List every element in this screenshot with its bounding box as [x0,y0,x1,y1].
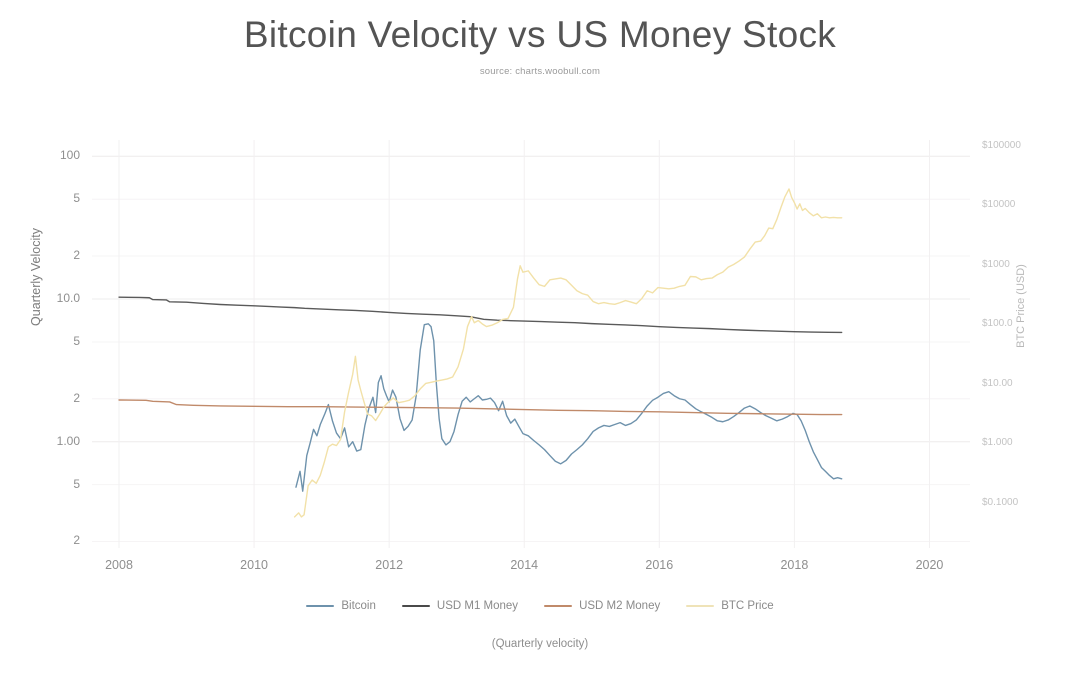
y2-axis-title: BTC Price (USD) [1015,226,1027,386]
legend-item[interactable]: USD M2 Money [544,600,660,612]
legend-swatch [402,605,430,607]
x-tick-label: 2012 [349,558,429,572]
chart-figure: Bitcoin Velocity vs US Money Stock sourc… [0,0,1080,675]
plot-area [0,0,1080,675]
chart-footnote: (Quarterly velocity) [0,638,1080,650]
y2-tick-label: $100000 [982,140,1021,151]
y-tick-label: 1.00 [18,434,80,448]
y-tick-label: 2 [18,533,80,547]
y-tick-label: 5 [18,191,80,205]
x-tick-label: 2008 [79,558,159,572]
y2-tick-label: $0.1000 [982,497,1018,508]
legend-swatch [686,605,714,607]
legend-item[interactable]: USD M1 Money [402,600,518,612]
x-tick-label: 2020 [889,558,969,572]
y-tick-label: 2 [18,391,80,405]
legend-swatch [544,605,572,607]
x-tick-label: 2018 [754,558,834,572]
y-tick-label: 100 [18,148,80,162]
x-tick-label: 2016 [619,558,699,572]
y-tick-label: 5 [18,334,80,348]
y2-tick-label: $100.0 [982,318,1013,329]
y2-tick-label: $1000 [982,259,1010,270]
y2-tick-label: $10000 [982,199,1015,210]
legend-label: USD M2 Money [579,600,660,612]
y-tick-label: 5 [18,477,80,491]
legend-label: Bitcoin [341,600,376,612]
series-line-usd-m1-money [119,297,842,332]
chart-legend: BitcoinUSD M1 MoneyUSD M2 MoneyBTC Price [0,600,1080,612]
legend-swatch [306,605,334,607]
y2-tick-label: $10.00 [982,378,1013,389]
legend-item[interactable]: Bitcoin [306,600,376,612]
y-tick-label: 2 [18,248,80,262]
legend-item[interactable]: BTC Price [686,600,773,612]
x-tick-label: 2010 [214,558,294,572]
legend-label: USD M1 Money [437,600,518,612]
y-tick-label: 10.0 [18,291,80,305]
x-tick-label: 2014 [484,558,564,572]
legend-label: BTC Price [721,600,773,612]
series-line-usd-m2-money [119,400,842,415]
y2-tick-label: $1.000 [982,437,1013,448]
series-line-btc-price [295,189,842,517]
